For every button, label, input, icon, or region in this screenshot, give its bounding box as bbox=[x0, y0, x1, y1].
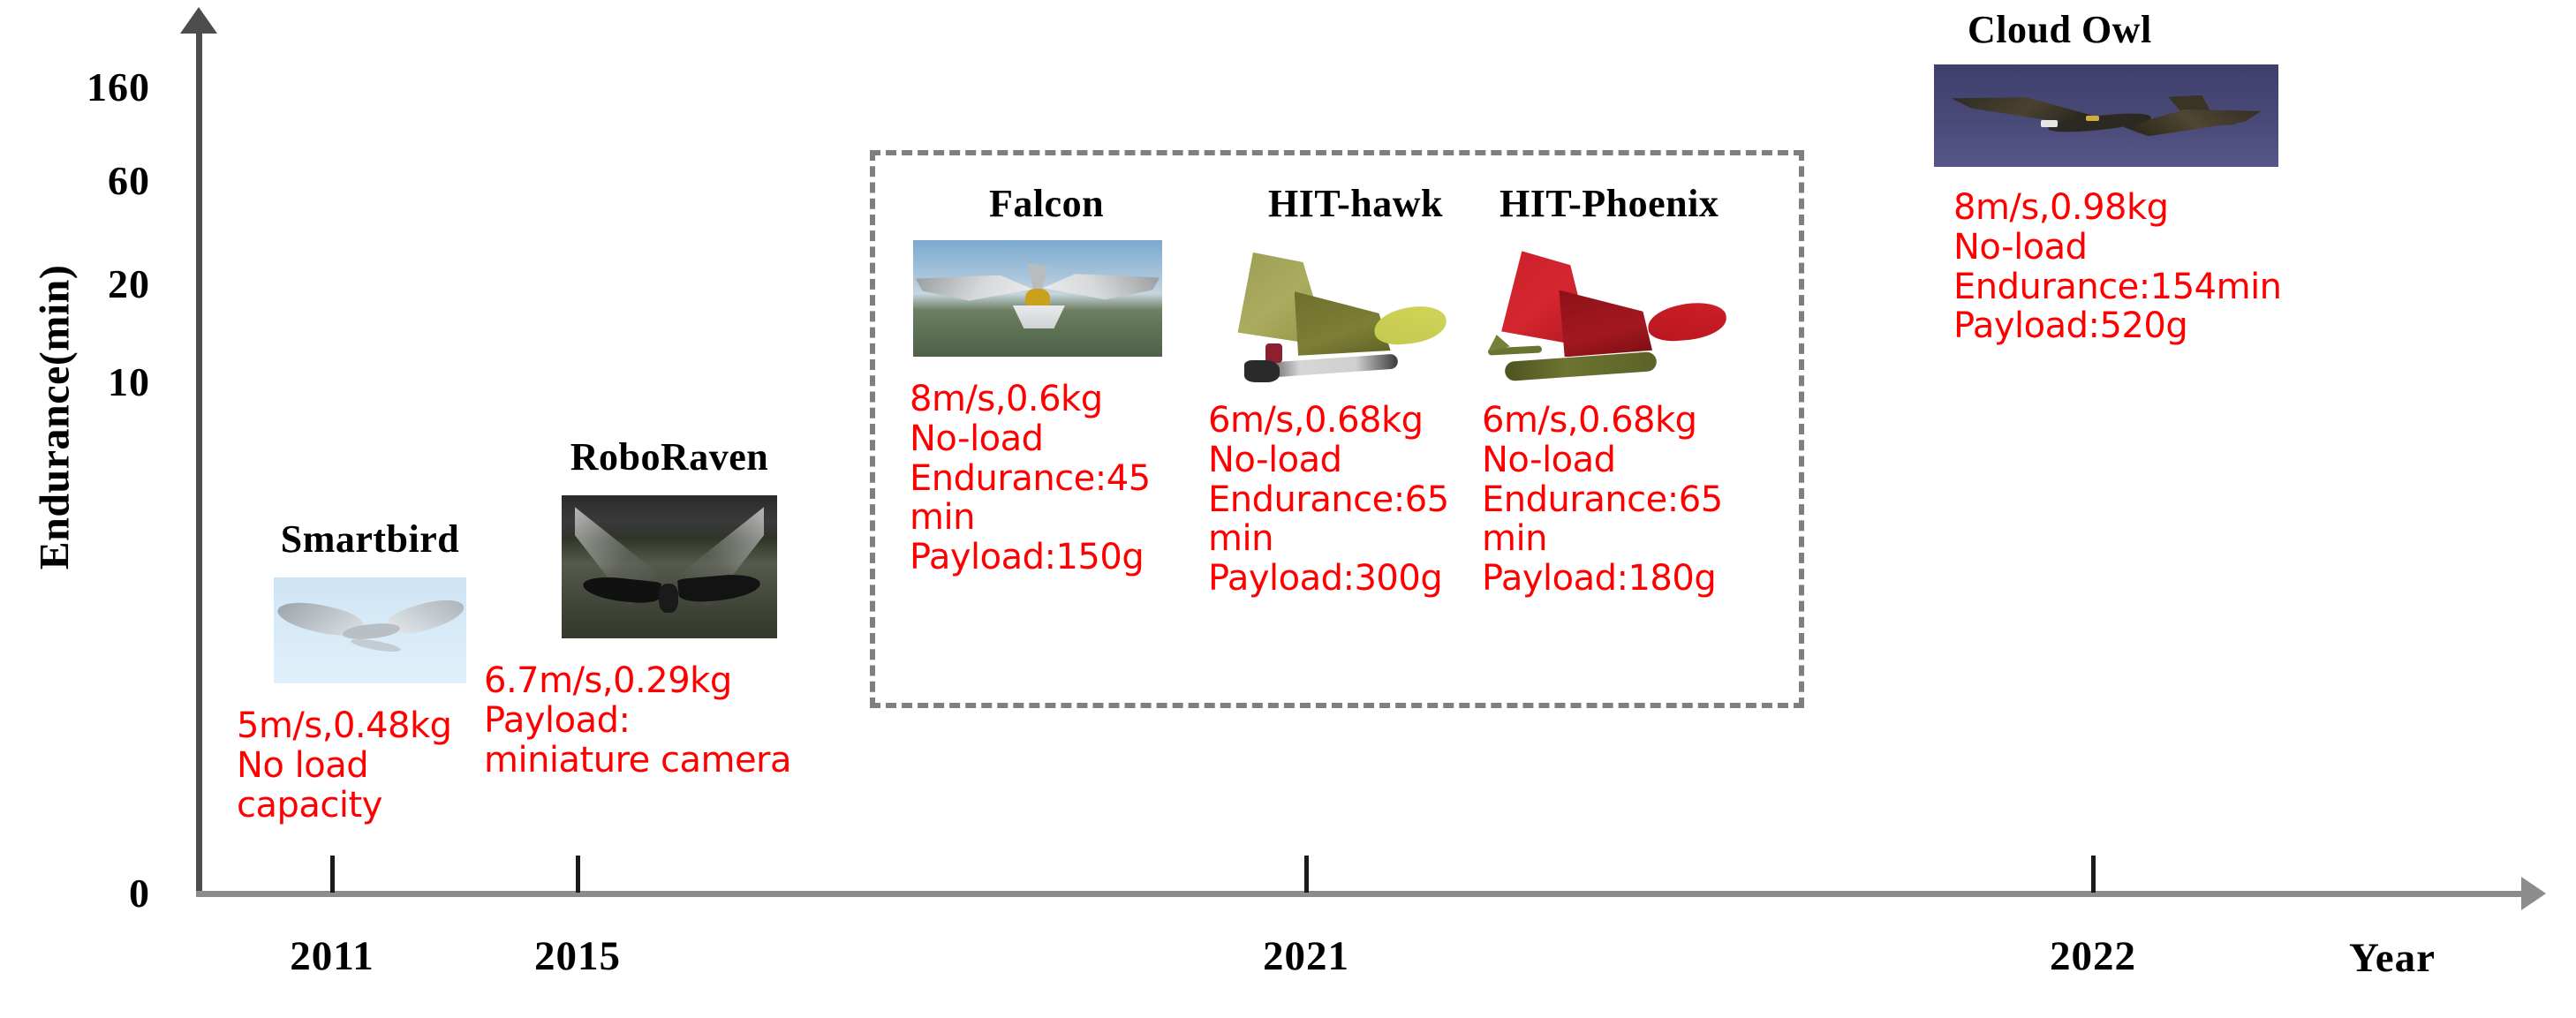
entry-title-hit-hawk: HIT-hawk bbox=[1210, 181, 1501, 226]
bird-nose bbox=[1244, 360, 1280, 382]
entry-hit-phoenix: HIT-Phoenix 6m/s,0.68kg No-load Enduranc… bbox=[1484, 181, 1828, 599]
entry-specs-cloud-owl: 8m/s,0.98kg No-load Endurance:154min Pay… bbox=[1953, 188, 2314, 346]
x-tick-label-2021: 2021 bbox=[1174, 932, 1439, 980]
x-axis-title: Year bbox=[2349, 934, 2436, 982]
entry-cloud-owl: Cloud Owl 8m/s,0.98kg No-load Endurance:… bbox=[1934, 7, 2314, 346]
entry-specs-roboraven: 6.7m/s,0.29kg Payload: miniature camera bbox=[484, 661, 846, 780]
photo-cloud-owl bbox=[1934, 64, 2278, 167]
entry-falcon: Falcon 8m/s,0.6kg No-load Endurance:45 m… bbox=[901, 181, 1192, 577]
x-tick-2011 bbox=[330, 856, 335, 893]
entry-title-smartbird: Smartbird bbox=[242, 517, 498, 562]
entry-specs-hit-hawk: 6m/s,0.68kg No-load Endurance:65 min Pay… bbox=[1208, 401, 1501, 599]
x-tick-2022 bbox=[2091, 856, 2096, 893]
entry-hit-hawk: HIT-hawk 6m/s,0.68kg No-load Endurance:6… bbox=[1210, 181, 1501, 599]
entry-title-hit-phoenix: HIT-Phoenix bbox=[1484, 181, 1828, 226]
x-axis-arrowhead-icon bbox=[2521, 877, 2546, 910]
bird-body bbox=[659, 584, 678, 612]
y-axis-arrowhead-icon bbox=[180, 7, 217, 34]
bird-fuselage bbox=[1505, 351, 1658, 381]
entry-title-falcon: Falcon bbox=[901, 181, 1192, 226]
bird-tail bbox=[351, 637, 401, 653]
entry-title-cloud-owl: Cloud Owl bbox=[1934, 7, 2314, 52]
x-tick-label-2022: 2022 bbox=[1960, 932, 2225, 980]
x-tick-2015 bbox=[576, 856, 580, 893]
y-tick-label-20: 20 bbox=[9, 260, 150, 307]
bird-marking-secondary bbox=[2086, 116, 2100, 121]
x-axis-line bbox=[196, 891, 2527, 897]
bird-wing-right bbox=[1043, 274, 1160, 299]
photo-smartbird bbox=[274, 577, 466, 683]
y-axis-line bbox=[196, 26, 202, 896]
y-tick-label-60: 60 bbox=[9, 157, 150, 204]
entry-specs-hit-phoenix: 6m/s,0.68kg No-load Endurance:65 min Pay… bbox=[1482, 401, 1828, 599]
entry-roboraven: RoboRaven 6.7m/s,0.29kg Payload: miniatu… bbox=[493, 434, 846, 780]
bird-wing-left bbox=[916, 275, 1033, 301]
x-tick-label-2011: 2011 bbox=[200, 932, 465, 980]
photo-hit-hawk bbox=[1215, 245, 1455, 385]
entry-specs-smartbird: 5m/s,0.48kg No load capacity bbox=[237, 706, 498, 825]
bird-wing-middle bbox=[1559, 290, 1652, 358]
entry-smartbird: Smartbird 5m/s,0.48kg No load capacity bbox=[242, 517, 498, 825]
endurance-vs-year-timeline-chart: Endurance(min) Year 160 60 20 10 0 2011 … bbox=[0, 0, 2576, 1018]
bird-marking bbox=[2041, 120, 2059, 127]
y-tick-label-10: 10 bbox=[9, 358, 150, 405]
bird-wing-tip bbox=[1646, 301, 1727, 344]
entry-title-roboraven: RoboRaven bbox=[493, 434, 846, 479]
photo-roboraven bbox=[562, 495, 777, 638]
photo-hit-phoenix bbox=[1485, 245, 1731, 385]
y-tick-label-0: 0 bbox=[9, 870, 150, 916]
bird-wing-tip bbox=[1372, 303, 1447, 346]
bird-payload-pod bbox=[1008, 305, 1070, 328]
x-tick-label-2015: 2015 bbox=[445, 932, 710, 980]
entry-specs-falcon: 8m/s,0.6kg No-load Endurance:45 min Payl… bbox=[910, 380, 1192, 577]
y-tick-label-160: 160 bbox=[9, 64, 150, 110]
photo-falcon bbox=[913, 240, 1162, 357]
x-tick-2021 bbox=[1304, 856, 1309, 893]
